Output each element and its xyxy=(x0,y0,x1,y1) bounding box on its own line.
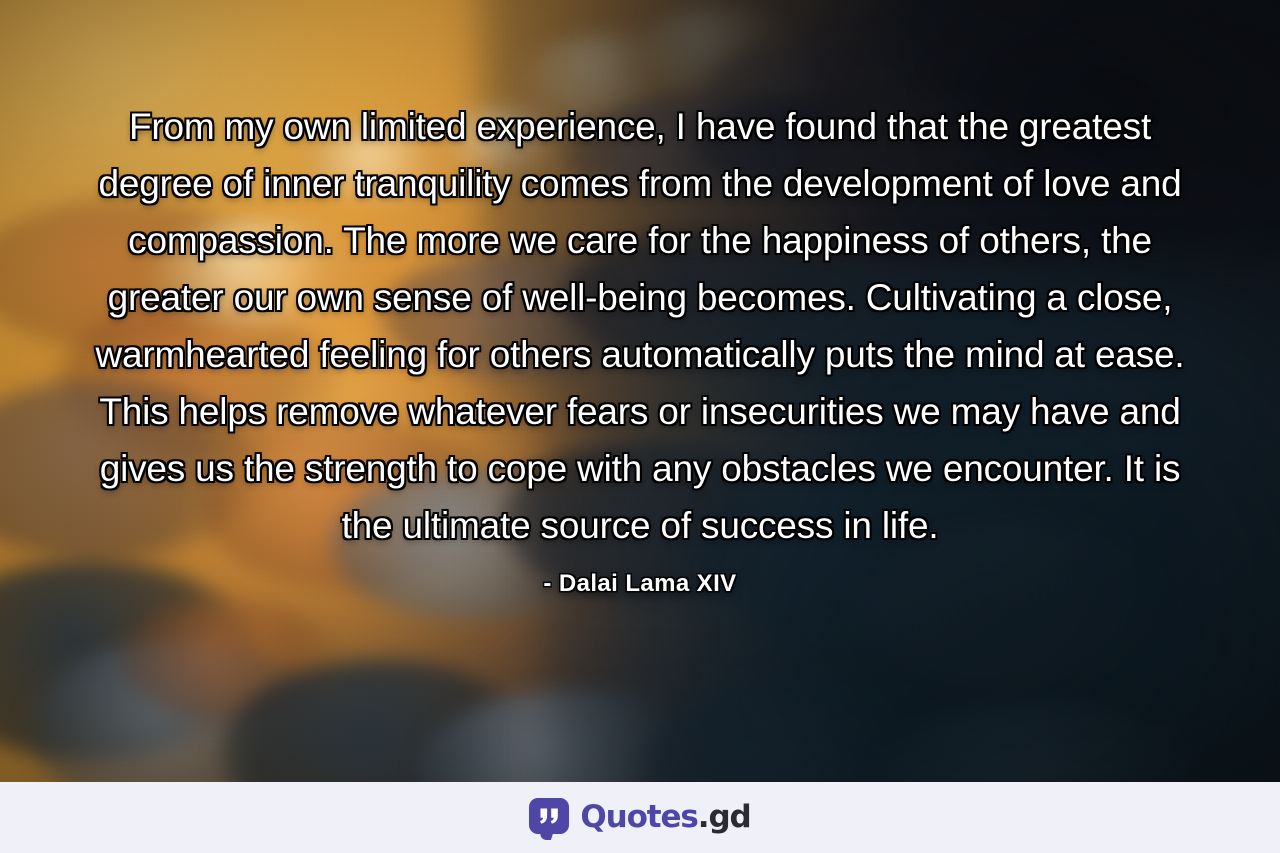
brand-name-primary: Quotes xyxy=(580,799,697,835)
footer-bar: Quotes.gd xyxy=(0,782,1280,853)
quote-image-page: From my own limited experience, I have f… xyxy=(0,0,1280,853)
brand-wordmark: Quotes.gd xyxy=(580,802,750,833)
quote-bubble-icon xyxy=(529,798,569,838)
quote-block: From my own limited experience, I have f… xyxy=(0,0,1280,782)
brand-logo[interactable]: Quotes.gd xyxy=(529,798,750,838)
quote-marks-icon xyxy=(529,798,569,834)
quote-text: From my own limited experience, I have f… xyxy=(90,98,1190,554)
brand-name-suffix: .gd xyxy=(698,799,751,835)
quote-author: - Dalai Lama XIV xyxy=(543,570,736,598)
